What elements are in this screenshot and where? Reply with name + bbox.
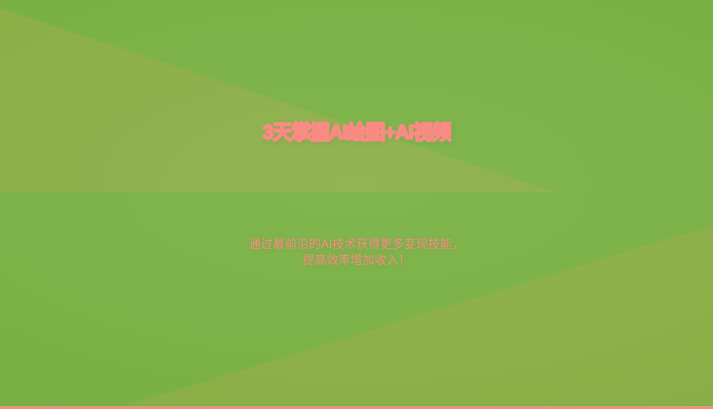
subtitle-block: 通过最前沿的AI技术获得更多变现技能， 提高效率增加收入！ (0, 236, 713, 268)
banner-content: 3天掌握AI绘图+AI视频 通过最前沿的AI技术获得更多变现技能， 提高效率增加… (0, 0, 713, 409)
subtitle-line-1: 通过最前沿的AI技术获得更多变现技能， (0, 236, 713, 252)
promo-banner: 3天掌握AI绘图+AI视频 通过最前沿的AI技术获得更多变现技能， 提高效率增加… (0, 0, 713, 409)
headline-title: 3天掌握AI绘图+AI视频 (4, 98, 710, 168)
subtitle-line-2: 提高效率增加收入！ (0, 252, 713, 268)
